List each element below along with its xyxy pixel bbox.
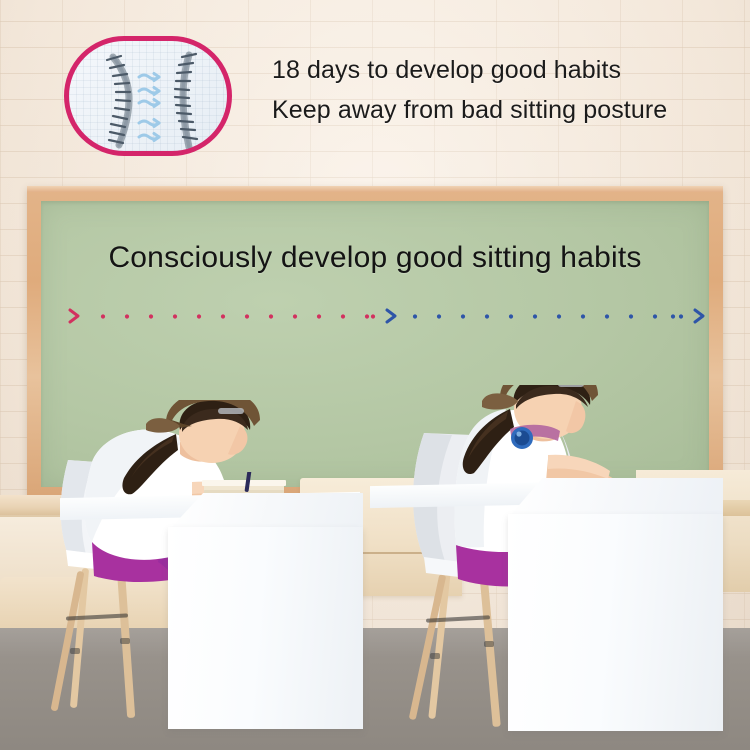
desk-left-front-panel: [168, 527, 363, 729]
dotted-divider: [67, 307, 687, 325]
spine-illustration: [69, 41, 232, 156]
chalkboard-text: Consciously develop good sitting habits: [41, 241, 709, 275]
right-dots: [413, 314, 683, 318]
headline-block: 18 days to develop good habits Keep away…: [272, 50, 740, 130]
left-dots: [101, 314, 375, 318]
transition-arrows-icon: [139, 74, 159, 141]
headline-line-1: 18 days to develop good habits: [272, 50, 740, 90]
headline-line-2: Keep away from bad sitting posture: [272, 90, 740, 130]
desk-right-front-panel: [508, 514, 723, 731]
spine-comparison-badge: [64, 36, 232, 156]
mid-chevron-icon: [387, 310, 395, 322]
curved-spine-icon: [107, 56, 130, 145]
straight-spine-icon: [175, 54, 197, 147]
right-chevron-icon: [695, 310, 703, 322]
product-banner-scene: 18 days to develop good habits Keep away…: [0, 0, 750, 750]
left-chevron-icon: [70, 310, 78, 322]
chair-right-legs: [409, 571, 501, 727]
chair-left-legs: [51, 568, 136, 718]
desk-right-top-bevel: [508, 478, 723, 518]
